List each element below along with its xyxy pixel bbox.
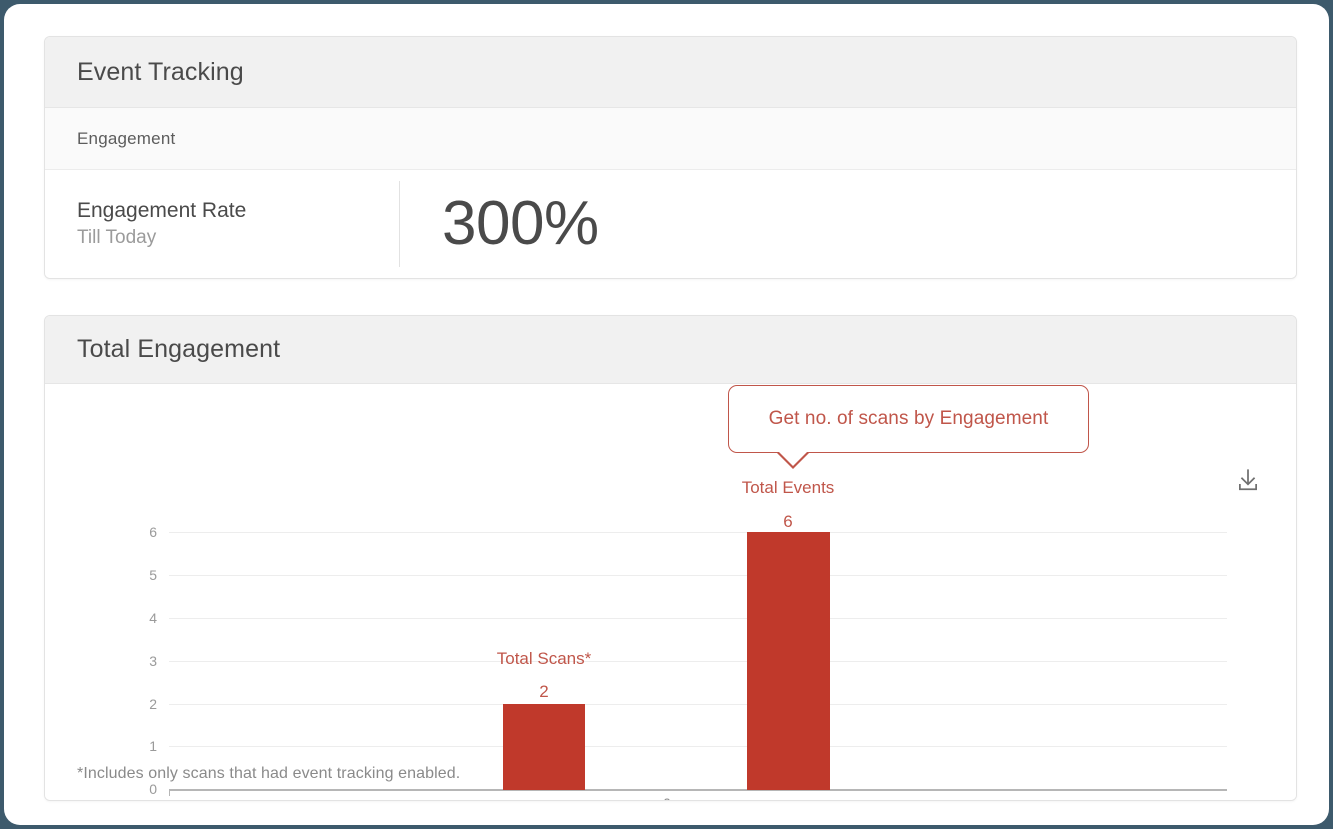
bar-label-total-events: Total Events xyxy=(742,478,835,498)
gridline-2 xyxy=(169,704,1227,705)
x-axis-origin-tick xyxy=(169,789,170,796)
callout-text: Get no. of scans by Engagement xyxy=(769,408,1049,430)
chart-title: Total Engagement xyxy=(77,335,280,364)
metric-divider xyxy=(399,181,400,267)
bar-total-scans[interactable] xyxy=(503,704,585,790)
page-title: Event Tracking xyxy=(77,58,244,87)
bar-total-events[interactable] xyxy=(747,532,830,790)
bar-value-total-scans: 2 xyxy=(539,682,548,702)
x-axis-line xyxy=(169,789,1227,791)
x-tick-label: 0 xyxy=(663,795,671,801)
metric-name: Engagement Rate xyxy=(77,197,399,225)
bar-label-total-scans: Total Scans* xyxy=(497,649,592,669)
gridline-4 xyxy=(169,618,1227,619)
y-tick-label: 3 xyxy=(117,653,157,669)
page-surface: Event Tracking Engagement Engagement Rat… xyxy=(4,4,1329,825)
chart-footnote: *Includes only scans that had event trac… xyxy=(77,765,460,783)
plot-area: 6 5 4 3 2 1 0 0 Total Scans* 2 Total Eve… xyxy=(45,384,1296,801)
callout-tooltip: Get no. of scans by Engagement xyxy=(728,385,1089,453)
y-tick-label: 2 xyxy=(117,696,157,712)
total-engagement-header: Total Engagement xyxy=(45,316,1296,384)
y-tick-label: 5 xyxy=(117,567,157,583)
gridline-3 xyxy=(169,661,1227,662)
callout-arrow-inner xyxy=(778,451,808,466)
gridline-5 xyxy=(169,575,1227,576)
gridline-6 xyxy=(169,532,1227,533)
y-tick-label: 6 xyxy=(117,524,157,540)
y-tick-label: 0 xyxy=(117,781,157,797)
engagement-rate-value: 300% xyxy=(442,193,599,255)
metric-period: Till Today xyxy=(77,225,399,251)
event-tracking-header: Event Tracking xyxy=(45,37,1296,108)
engagement-rate-row: Engagement Rate Till Today 300% xyxy=(45,170,1296,278)
total-engagement-card: Total Engagement Get no. of scans by Eng… xyxy=(44,315,1297,801)
bar-value-total-events: 6 xyxy=(783,512,792,532)
gridline-1 xyxy=(169,746,1227,747)
event-tracking-card: Event Tracking Engagement Engagement Rat… xyxy=(44,36,1297,279)
metric-label-group: Engagement Rate Till Today xyxy=(77,197,399,251)
event-tracking-subheader: Engagement xyxy=(45,108,1296,170)
subheader-label-engagement: Engagement xyxy=(77,129,175,149)
y-tick-label: 1 xyxy=(117,738,157,754)
y-tick-label: 4 xyxy=(117,610,157,626)
chart-body: Get no. of scans by Engagement xyxy=(45,384,1296,801)
